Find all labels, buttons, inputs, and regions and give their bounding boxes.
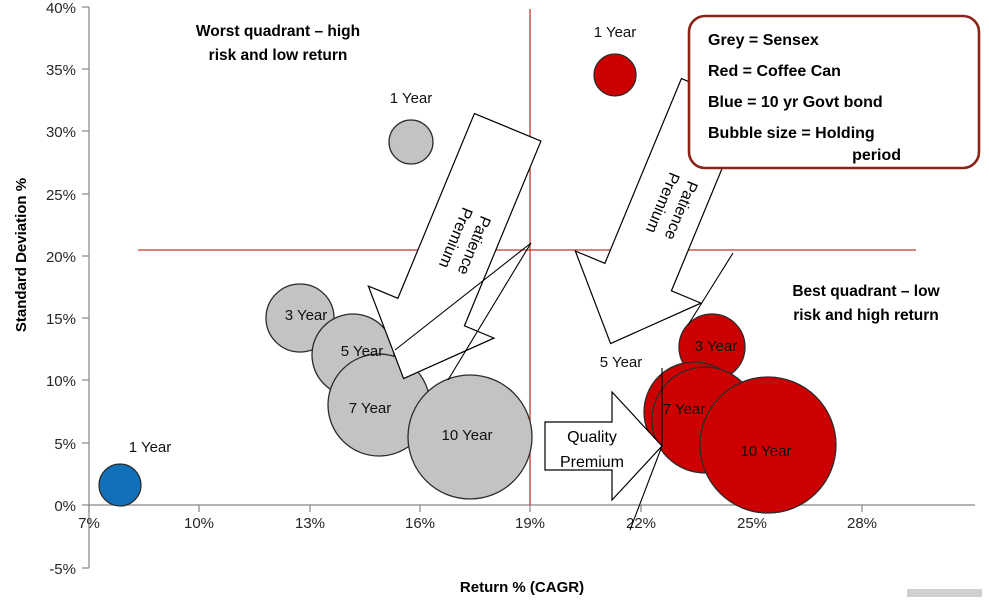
y-tick-label: 40% (46, 0, 76, 17)
quality-premium-arrow: Quality Premium (545, 368, 662, 530)
legend-item-bubble-size-line-2: period (852, 147, 901, 164)
bubble-label-sensex-1-year: 1 Year (390, 90, 433, 107)
y-tick-label: 0% (54, 498, 76, 515)
best-quadrant-annotation: Best quadrant – low risk and high return (792, 283, 940, 324)
legend: Grey = Sensex Red = Coffee Can Blue = 10… (689, 16, 979, 168)
best-quadrant-line-1: Best quadrant – low (792, 283, 940, 300)
bubble-sensex-1-year[interactable] (389, 120, 433, 164)
legend-item-coffee-can: Red = Coffee Can (708, 63, 841, 80)
chart-canvas: 40% 35% 30% 25% 20% 15% 10% 5% 0% -5% 7%… (0, 0, 989, 600)
legend-item-sensex: Grey = Sensex (708, 32, 819, 49)
quality-premium-word-2: Premium (560, 454, 624, 471)
x-axis-title: Return % (CAGR) (460, 579, 584, 596)
x-tick-label: 28% (847, 515, 877, 532)
y-tick-label: 10% (46, 373, 76, 390)
bubble-label-coffeecan-7-year: 7 Year (663, 401, 706, 418)
x-tick-label: 19% (515, 515, 545, 532)
quality-premium-word-1: Quality (567, 429, 617, 446)
bubble-label-coffeecan-5-year: 5 Year (600, 354, 643, 371)
bubble-label-sensex-7-year: 7 Year (349, 400, 392, 417)
bubble-coffeecan-1-year[interactable] (594, 54, 636, 96)
bubble-label-bond-1-year: 1 Year (129, 439, 172, 456)
series-govt-bond: 1 Year (99, 439, 171, 506)
x-tick-label: 10% (184, 515, 214, 532)
x-tick-label: 13% (295, 515, 325, 532)
best-quadrant-line-2: risk and high return (793, 307, 939, 324)
y-tick-label: 30% (46, 124, 76, 141)
y-tick-label: 5% (54, 436, 76, 453)
x-tick-label: 16% (405, 515, 435, 532)
bubble-label-sensex-5-year: 5 Year (341, 343, 384, 360)
y-axis-title: Standard Deviation % (13, 178, 30, 332)
bubble-label-coffeecan-3-year: 3 Year (695, 338, 738, 355)
y-tick-label: 35% (46, 62, 76, 79)
worst-quadrant-line-2: risk and low return (209, 47, 348, 64)
x-tick-label: 7% (78, 515, 100, 532)
worst-quadrant-annotation: Worst quadrant – high risk and low retur… (196, 23, 360, 64)
y-tick-label: 25% (46, 187, 76, 204)
legend-item-govt-bond: Blue = 10 yr Govt bond (708, 94, 883, 111)
bubble-chart: 40% 35% 30% 25% 20% 15% 10% 5% 0% -5% 7%… (0, 0, 989, 600)
bubble-label-sensex-3-year: 3 Year (285, 307, 328, 324)
bubble-label-coffeecan-1-year: 1 Year (594, 24, 637, 41)
legend-item-bubble-size-line-1: Bubble size = Holding (708, 125, 875, 142)
x-tick-label: 25% (737, 515, 767, 532)
bubble-bond-1-year[interactable] (99, 464, 141, 506)
y-tick-label: 20% (46, 249, 76, 266)
corner-bar (907, 589, 982, 597)
bubble-label-sensex-10-year: 10 Year (442, 427, 493, 444)
worst-quadrant-line-1: Worst quadrant – high (196, 23, 360, 40)
bubble-label-coffeecan-10-year: 10 Year (741, 443, 792, 460)
y-tick-label: -5% (49, 561, 76, 578)
y-tick-label: 15% (46, 311, 76, 328)
